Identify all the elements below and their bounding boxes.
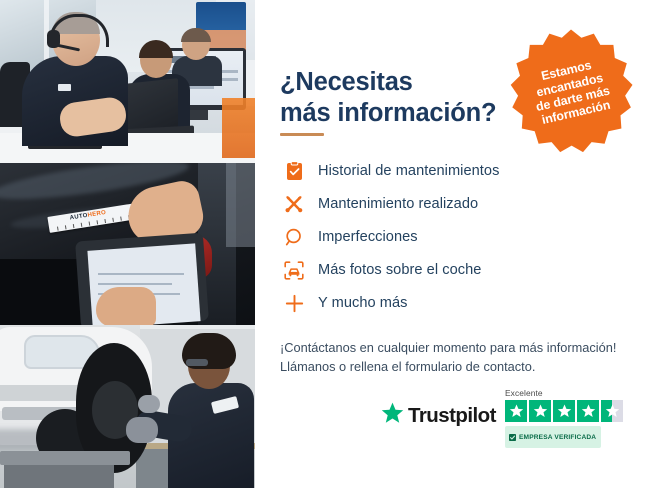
page-title: ¿Necesitas más información? (280, 67, 535, 129)
star-filled-icon (553, 400, 575, 422)
trustpilot-star-icon (381, 402, 404, 429)
car-photo-scan-icon (279, 257, 309, 283)
plus-icon (279, 290, 309, 316)
photo-collage: AUTOHERO (0, 0, 255, 488)
brand-auto: AUTO (69, 213, 88, 222)
support-badge: Estamos encantados de darte más informac… (508, 28, 634, 154)
trustpilot-wordmark: Trustpilot (408, 404, 496, 428)
star-filled-icon (505, 400, 527, 422)
info-banner: AUTOHERO ¿Necesitas más (0, 0, 650, 488)
feature-item-imperfections: Imperfecciones (279, 221, 579, 253)
blurb-line-1: ¡Contáctanos en cualquier momento para m… (280, 340, 616, 355)
rating-label: Excelente (505, 388, 631, 398)
feature-label: Más fotos sobre el coche (309, 262, 481, 278)
contact-blurb: ¡Contáctanos en cualquier momento para m… (280, 338, 640, 377)
brand-hero: HERO (87, 210, 106, 219)
photo-call-center-agents-with-headsets (0, 0, 255, 163)
feature-label: Imperfecciones (309, 229, 418, 245)
feature-item-more-car-photos: Más fotos sobre el coche (279, 254, 579, 286)
content-panel: ¿Necesitas más información? Estamos (255, 0, 650, 488)
feature-item-much-more: Y mucho más (279, 287, 579, 319)
title-underline-accent (280, 133, 324, 136)
feature-list: Historial de mantenimientos Mantenimient… (279, 155, 579, 320)
feature-item-maintenance-history: Historial de mantenimientos (279, 155, 579, 187)
feature-label: Historial de mantenimientos (309, 163, 499, 179)
headline-line-1: ¿Necesitas (280, 68, 413, 96)
star-half-icon (601, 400, 623, 422)
feature-label: Y mucho más (309, 295, 408, 311)
crossed-tools-icon (279, 191, 309, 217)
star-filled-icon (529, 400, 551, 422)
verified-check-icon (509, 428, 516, 446)
trustpilot-rating: Excelente (505, 388, 631, 448)
headline-line-2: más información? (280, 99, 496, 127)
magnifier-icon (279, 224, 309, 250)
feature-item-maintenance-done: Mantenimiento realizado (279, 188, 579, 220)
photo-mechanic-inspecting-white-car-on-lift (0, 325, 255, 488)
star-rating (505, 400, 631, 422)
verified-company-badge: EMPRESA VERIFICADA (505, 426, 601, 448)
blurb-line-2: Llámanos o rellena el formulario de cont… (280, 359, 535, 374)
trustpilot-logo[interactable]: Trustpilot (381, 402, 496, 429)
star-filled-icon (577, 400, 599, 422)
feature-label: Mantenimiento realizado (309, 196, 478, 212)
verified-label: EMPRESA VERIFICADA (519, 434, 596, 441)
checklist-document-icon (279, 158, 309, 184)
trustpilot-block[interactable]: Trustpilot Excelente (381, 388, 631, 448)
photo-inspection-ruler-autohero-on-car: AUTOHERO (0, 163, 255, 325)
